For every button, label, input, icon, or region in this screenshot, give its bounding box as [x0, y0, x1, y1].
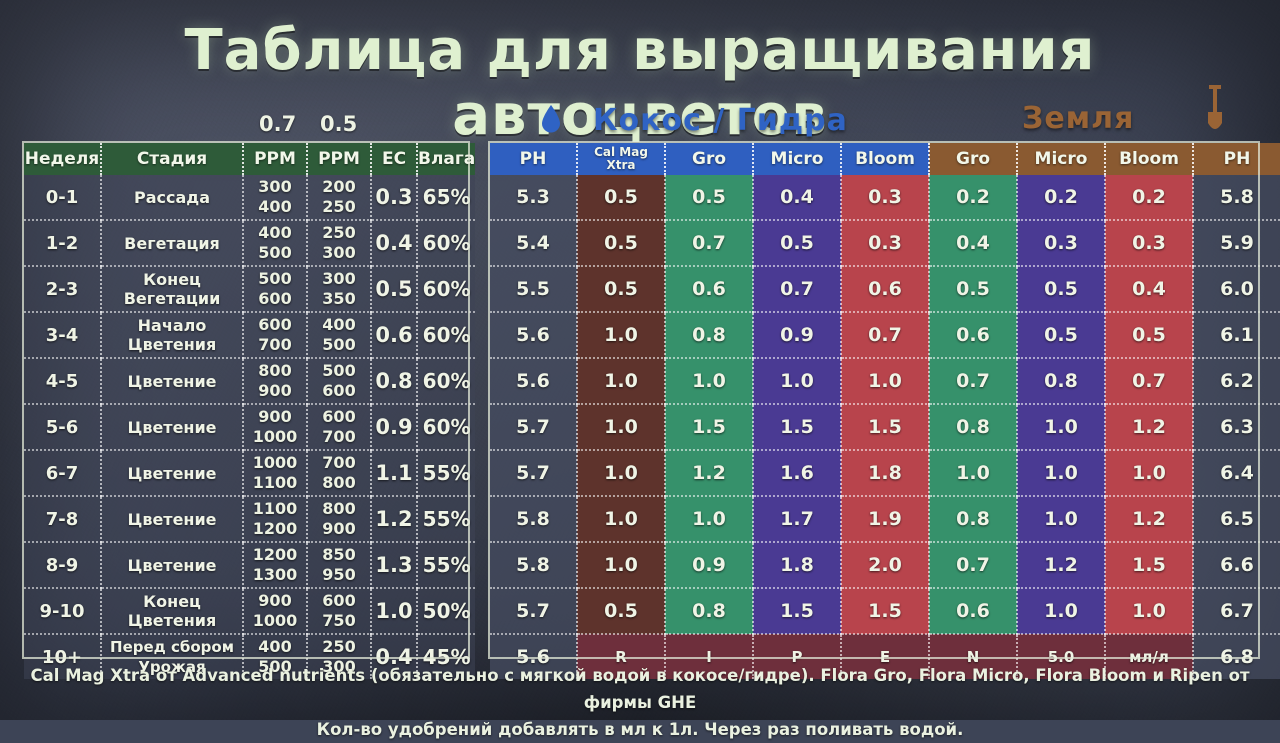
cell-calmag: 0.5 — [577, 266, 665, 312]
cell-bloom-soil: 1.5 — [1105, 542, 1193, 588]
cell-calmag: 1.0 — [577, 312, 665, 358]
cell-ec: 0.4 — [371, 220, 417, 266]
cell-ph-coco: 5.4 — [490, 220, 577, 266]
cell-week: 6-7 — [24, 450, 101, 496]
cell-micro-soil: 0.3 — [1017, 220, 1105, 266]
cell-week: 4-5 — [24, 358, 101, 404]
cell-micro-soil: 0.5 — [1017, 312, 1105, 358]
cell-bloom-soil: 0.7 — [1105, 358, 1193, 404]
shovel-icon — [1202, 85, 1228, 135]
cell-ppm-05: 800900 — [307, 496, 371, 542]
water-drop-icon — [540, 104, 562, 134]
cell-ph-soil: 6.7 — [1193, 588, 1280, 634]
cell-gro-soil: 0.4 — [929, 220, 1017, 266]
cell-humidity: 60% — [417, 220, 475, 266]
table-row: 5.61.01.01.01.00.70.80.76.2 — [490, 358, 1280, 404]
header-ec: EC — [371, 143, 417, 175]
cell-bloom-coco: 1.5 — [841, 404, 929, 450]
cell-bloom-soil: 1.0 — [1105, 450, 1193, 496]
cell-micro-soil: 1.0 — [1017, 496, 1105, 542]
cell-ph-coco: 5.7 — [490, 404, 577, 450]
cell-micro-coco: 0.7 — [753, 266, 841, 312]
cell-calmag: 0.5 — [577, 175, 665, 220]
cell-humidity: 60% — [417, 404, 475, 450]
cell-ph-soil: 6.1 — [1193, 312, 1280, 358]
header-calmag: Cal MagXtra — [577, 143, 665, 175]
cell-gro-coco: 1.2 — [665, 450, 753, 496]
cell-gro-coco: 0.7 — [665, 220, 753, 266]
footer-line-2: Кол-во удобрений добавлять в мл к 1л. Че… — [0, 716, 1280, 743]
header-humidity: Влага — [417, 143, 475, 175]
cell-bloom-soil: 1.2 — [1105, 496, 1193, 542]
header-bloom-coco: Bloom — [841, 143, 929, 175]
cell-gro-coco: 0.6 — [665, 266, 753, 312]
cell-week: 1-2 — [24, 220, 101, 266]
cell-stage: Конец Цветения — [101, 588, 243, 634]
cell-ph-soil: 6.5 — [1193, 496, 1280, 542]
cell-micro-coco: 1.5 — [753, 588, 841, 634]
cell-stage: Рассада — [101, 175, 243, 220]
cell-stage: Цветение — [101, 404, 243, 450]
table-row: 2-3Конец Вегетации5006003003500.560% — [24, 266, 475, 312]
cell-week: 3-4 — [24, 312, 101, 358]
section-label-soil: Земля — [1022, 101, 1134, 136]
cell-ppm-05: 850950 — [307, 542, 371, 588]
header-micro-coco: Micro — [753, 143, 841, 175]
cell-ec: 0.3 — [371, 175, 417, 220]
table-row: 8-9Цветение120013008509501.355% — [24, 542, 475, 588]
cell-gro-soil: 0.7 — [929, 542, 1017, 588]
cell-ec: 1.3 — [371, 542, 417, 588]
cell-bloom-soil: 0.3 — [1105, 220, 1193, 266]
table-row: 7-8Цветение110012008009001.255% — [24, 496, 475, 542]
cell-micro-soil: 1.2 — [1017, 542, 1105, 588]
ppm-factor-05-label: 0.5 — [320, 112, 357, 136]
cell-stage: Начало Цветения — [101, 312, 243, 358]
cell-ph-soil: 6.3 — [1193, 404, 1280, 450]
table-row: 5.50.50.60.70.60.50.50.46.0 — [490, 266, 1280, 312]
header-ppm-07: PPM — [243, 143, 307, 175]
cell-humidity: 55% — [417, 450, 475, 496]
cell-ppm-05: 200250 — [307, 175, 371, 220]
header-ph-soil: PH — [1193, 143, 1280, 175]
cell-humidity: 60% — [417, 312, 475, 358]
cell-ppm-07: 11001200 — [243, 496, 307, 542]
table-row: 3-4Начало Цветения6007004005000.660% — [24, 312, 475, 358]
ppm-factor-07-label: 0.7 — [259, 112, 296, 136]
cell-gro-coco: 0.5 — [665, 175, 753, 220]
cell-stage: Цветение — [101, 450, 243, 496]
cell-bloom-soil: 0.4 — [1105, 266, 1193, 312]
cell-ph-soil: 6.4 — [1193, 450, 1280, 496]
cell-ph-coco: 5.8 — [490, 542, 577, 588]
cell-ppm-05: 300350 — [307, 266, 371, 312]
cell-micro-soil: 0.5 — [1017, 266, 1105, 312]
cell-ph-soil: 5.9 — [1193, 220, 1280, 266]
cell-micro-soil: 1.0 — [1017, 450, 1105, 496]
cell-bloom-coco: 1.9 — [841, 496, 929, 542]
table-row: 6-7Цветение100011007008001.155% — [24, 450, 475, 496]
cell-calmag: 1.0 — [577, 542, 665, 588]
cell-ec: 0.5 — [371, 266, 417, 312]
cell-calmag: 0.5 — [577, 588, 665, 634]
cell-ph-soil: 6.0 — [1193, 266, 1280, 312]
cell-ppm-07: 300400 — [243, 175, 307, 220]
cell-bloom-coco: 1.5 — [841, 588, 929, 634]
cell-ppm-07: 10001100 — [243, 450, 307, 496]
cell-ppm-07: 800900 — [243, 358, 307, 404]
cell-week: 7-8 — [24, 496, 101, 542]
cell-stage: Цветение — [101, 542, 243, 588]
footer-line-1: Cal Mag Xtra от Advanced nutrients (обяз… — [0, 662, 1280, 716]
cell-calmag: 1.0 — [577, 450, 665, 496]
cell-ph-soil: 6.6 — [1193, 542, 1280, 588]
cell-ph-coco: 5.5 — [490, 266, 577, 312]
cell-week: 8-9 — [24, 542, 101, 588]
cell-ph-soil: 6.2 — [1193, 358, 1280, 404]
table-row: 5.61.00.80.90.70.60.50.56.1 — [490, 312, 1280, 358]
cell-gro-soil: 0.5 — [929, 266, 1017, 312]
cell-ppm-05: 250300 — [307, 220, 371, 266]
table-row: 0-1Рассада3004002002500.365% — [24, 175, 475, 220]
header-stage: Стадия — [101, 143, 243, 175]
cell-gro-coco: 0.9 — [665, 542, 753, 588]
cell-ec: 0.6 — [371, 312, 417, 358]
cell-ppm-05: 600700 — [307, 404, 371, 450]
cell-bloom-soil: 0.5 — [1105, 312, 1193, 358]
cell-ppm-07: 400500 — [243, 220, 307, 266]
cell-ph-coco: 5.6 — [490, 358, 577, 404]
cell-bloom-soil: 0.2 — [1105, 175, 1193, 220]
table-row: 5.71.01.51.51.50.81.01.26.3 — [490, 404, 1280, 450]
cell-bloom-coco: 2.0 — [841, 542, 929, 588]
cell-humidity: 65% — [417, 175, 475, 220]
table-row: 5-6Цветение90010006007000.960% — [24, 404, 475, 450]
cell-gro-soil: 0.7 — [929, 358, 1017, 404]
cell-micro-coco: 1.6 — [753, 450, 841, 496]
cell-humidity: 55% — [417, 496, 475, 542]
cell-ec: 0.8 — [371, 358, 417, 404]
cell-ppm-05: 600750 — [307, 588, 371, 634]
cell-ph-coco: 5.7 — [490, 588, 577, 634]
cell-stage: Конец Вегетации — [101, 266, 243, 312]
cell-gro-soil: 0.8 — [929, 404, 1017, 450]
cell-gro-soil: 0.6 — [929, 312, 1017, 358]
table-row: 5.81.00.91.82.00.71.21.56.6 — [490, 542, 1280, 588]
cell-micro-soil: 0.2 — [1017, 175, 1105, 220]
cell-stage: Вегетация — [101, 220, 243, 266]
cell-micro-coco: 0.5 — [753, 220, 841, 266]
cell-ppm-07: 9001000 — [243, 404, 307, 450]
cell-gro-soil: 0.8 — [929, 496, 1017, 542]
cell-gro-soil: 1.0 — [929, 450, 1017, 496]
cell-micro-coco: 1.5 — [753, 404, 841, 450]
growth-table-left: Неделя Стадия PPM PPM EC Влага 0-1Рассад… — [24, 143, 475, 679]
header-gro-coco: Gro — [665, 143, 753, 175]
cell-bloom-coco: 0.3 — [841, 220, 929, 266]
table-row: 9-10Конец Цветения90010006007501.050% — [24, 588, 475, 634]
table-row: 5.81.01.01.71.90.81.01.26.5 — [490, 496, 1280, 542]
cell-micro-coco: 1.7 — [753, 496, 841, 542]
cell-gro-coco: 1.0 — [665, 358, 753, 404]
header-bloom-soil: Bloom — [1105, 143, 1193, 175]
table-header-row-right: PH Cal MagXtra Gro Micro Bloom Gro Micro… — [490, 143, 1280, 175]
cell-stage: Цветение — [101, 358, 243, 404]
cell-bloom-coco: 0.7 — [841, 312, 929, 358]
cell-gro-soil: 0.6 — [929, 588, 1017, 634]
header-gro-soil: Gro — [929, 143, 1017, 175]
cell-gro-coco: 1.0 — [665, 496, 753, 542]
cell-ec: 1.2 — [371, 496, 417, 542]
cell-week: 0-1 — [24, 175, 101, 220]
table-row: 1-2Вегетация4005002503000.460% — [24, 220, 475, 266]
cell-ppm-05: 500600 — [307, 358, 371, 404]
cell-gro-soil: 0.2 — [929, 175, 1017, 220]
cell-calmag: 1.0 — [577, 496, 665, 542]
cell-bloom-coco: 1.8 — [841, 450, 929, 496]
cell-ec: 0.9 — [371, 404, 417, 450]
cell-calmag: 1.0 — [577, 404, 665, 450]
cell-ph-coco: 5.8 — [490, 496, 577, 542]
table-row: 4-5Цветение8009005006000.860% — [24, 358, 475, 404]
cell-ppm-07: 500600 — [243, 266, 307, 312]
cell-week: 9-10 — [24, 588, 101, 634]
cell-gro-coco: 1.5 — [665, 404, 753, 450]
header-micro-soil: Micro — [1017, 143, 1105, 175]
cell-ppm-07: 12001300 — [243, 542, 307, 588]
cell-ppm-05: 400500 — [307, 312, 371, 358]
cell-stage: Цветение — [101, 496, 243, 542]
header-ppm-05: PPM — [307, 143, 371, 175]
cell-ph-coco: 5.7 — [490, 450, 577, 496]
table-row: 5.70.50.81.51.50.61.01.06.7 — [490, 588, 1280, 634]
header-calmag-l1: Cal Mag — [594, 145, 648, 159]
section-label-coco-hydro: Кокос / Гидра — [593, 103, 848, 138]
cell-micro-soil: 1.0 — [1017, 588, 1105, 634]
cell-ppm-05: 700800 — [307, 450, 371, 496]
cell-humidity: 50% — [417, 588, 475, 634]
cell-week: 2-3 — [24, 266, 101, 312]
table-row: 5.71.01.21.61.81.01.01.06.4 — [490, 450, 1280, 496]
table-row: 5.30.50.50.40.30.20.20.25.8 — [490, 175, 1280, 220]
header-week: Неделя — [24, 143, 101, 175]
cell-ec: 1.0 — [371, 588, 417, 634]
cell-bloom-soil: 1.2 — [1105, 404, 1193, 450]
cell-calmag: 1.0 — [577, 358, 665, 404]
cell-gro-coco: 0.8 — [665, 312, 753, 358]
cell-humidity: 55% — [417, 542, 475, 588]
cell-ph-soil: 5.8 — [1193, 175, 1280, 220]
cell-micro-soil: 1.0 — [1017, 404, 1105, 450]
cell-micro-coco: 1.0 — [753, 358, 841, 404]
cell-ec: 1.1 — [371, 450, 417, 496]
header-ph-coco: PH — [490, 143, 577, 175]
cell-micro-coco: 0.4 — [753, 175, 841, 220]
cell-ppm-07: 600700 — [243, 312, 307, 358]
cell-micro-coco: 1.8 — [753, 542, 841, 588]
footer-note: Cal Mag Xtra от Advanced nutrients (обяз… — [0, 662, 1280, 743]
table-header-row-left: Неделя Стадия PPM PPM EC Влага — [24, 143, 475, 175]
cell-bloom-coco: 0.6 — [841, 266, 929, 312]
cell-ph-coco: 5.3 — [490, 175, 577, 220]
header-calmag-l2: Xtra — [606, 158, 635, 172]
cell-bloom-coco: 1.0 — [841, 358, 929, 404]
growth-table-right: PH Cal MagXtra Gro Micro Bloom Gro Micro… — [490, 143, 1280, 679]
cell-micro-soil: 0.8 — [1017, 358, 1105, 404]
cell-calmag: 0.5 — [577, 220, 665, 266]
cell-week: 5-6 — [24, 404, 101, 450]
cell-gro-coco: 0.8 — [665, 588, 753, 634]
cell-bloom-coco: 0.3 — [841, 175, 929, 220]
cell-ppm-07: 9001000 — [243, 588, 307, 634]
cell-micro-coco: 0.9 — [753, 312, 841, 358]
table-row: 5.40.50.70.50.30.40.30.35.9 — [490, 220, 1280, 266]
cell-humidity: 60% — [417, 266, 475, 312]
cell-ph-coco: 5.6 — [490, 312, 577, 358]
cell-bloom-soil: 1.0 — [1105, 588, 1193, 634]
cell-humidity: 60% — [417, 358, 475, 404]
